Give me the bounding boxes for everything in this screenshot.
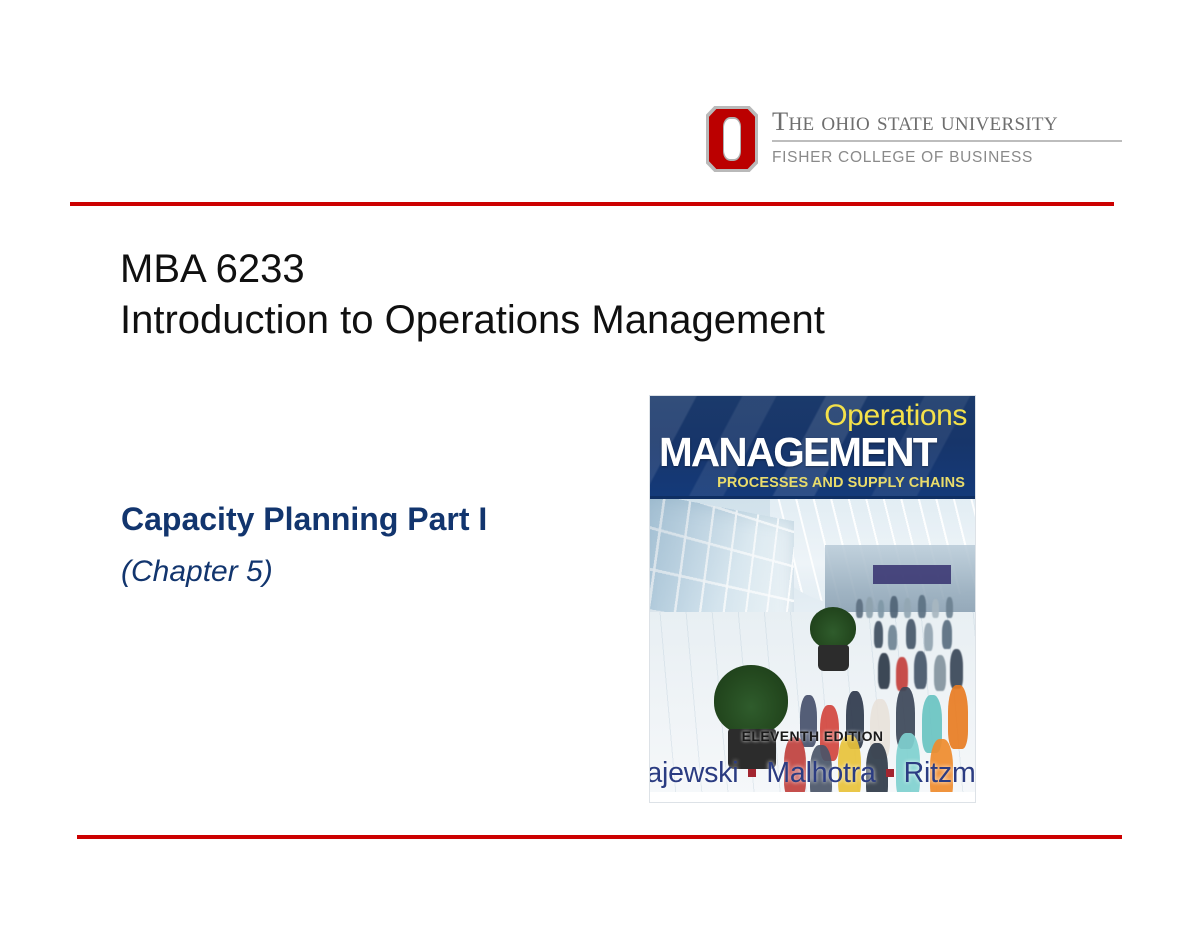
cover-subtitle-text: PROCESSES AND SUPPLY CHAINS bbox=[717, 476, 965, 491]
author-name-1: Krajewski bbox=[650, 757, 738, 790]
cover-word-management: MANAGEMENT bbox=[659, 432, 936, 473]
cover-authors: Krajewski Malhotra Ritzman bbox=[650, 757, 975, 790]
cover-edition-label: ELEVENTH EDITION bbox=[650, 728, 975, 744]
osu-fisher-logo: The Ohio State University FISHER COLLEGE… bbox=[706, 106, 1122, 178]
cover-bottom-edge bbox=[650, 792, 975, 802]
logo-divider bbox=[772, 140, 1122, 142]
cover-word-operations: Operations bbox=[824, 401, 967, 431]
top-red-rule bbox=[70, 202, 1114, 206]
logo-text-group: The Ohio State University FISHER COLLEGE… bbox=[772, 106, 1122, 167]
author-separator-square-icon bbox=[748, 769, 756, 777]
textbook-cover-image: Operations MANAGEMENT PROCESSES AND SUPP… bbox=[650, 396, 975, 802]
topic-block: Capacity Planning Part I (Chapter 5) bbox=[121, 500, 641, 590]
osu-block-o-icon bbox=[706, 106, 758, 172]
course-name: Introduction to Operations Management bbox=[120, 295, 1020, 346]
bottom-red-rule bbox=[77, 835, 1122, 839]
author-name-3: Ritzman bbox=[904, 757, 975, 790]
university-name: The Ohio State University bbox=[772, 108, 1122, 136]
course-code: MBA 6233 bbox=[120, 244, 1020, 295]
slide-canvas: The Ohio State University FISHER COLLEGE… bbox=[0, 0, 1200, 927]
chapter-reference: (Chapter 5) bbox=[121, 554, 641, 590]
author-separator-square-icon bbox=[886, 769, 894, 777]
page-title: MBA 6233 Introduction to Operations Mana… bbox=[120, 244, 1020, 346]
college-name: FISHER COLLEGE OF BUSINESS bbox=[772, 149, 1122, 167]
topic-title: Capacity Planning Part I bbox=[121, 500, 641, 538]
author-name-2: Malhotra bbox=[766, 757, 875, 790]
